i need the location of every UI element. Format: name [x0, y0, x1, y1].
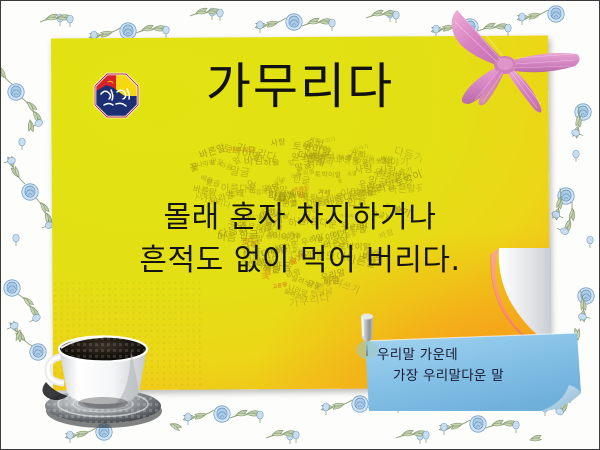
watermark-word: 말모이 [292, 150, 317, 163]
watermark-word: 새말 [263, 180, 282, 196]
watermark-word: 우리말 [300, 137, 334, 161]
watermark-word: 토박이말 [393, 163, 423, 190]
watermark-word: 사랑 [275, 174, 287, 183]
note-line-1: 우리말 가운데 [377, 345, 577, 366]
watermark-word: 꽃 [188, 159, 200, 175]
watermark-word: 살려쓰기 [283, 286, 310, 303]
watermark-word: 슬기 [398, 165, 414, 178]
watermark-word: 말글 [353, 155, 370, 170]
watermark-word: 겨레 [318, 186, 332, 197]
watermark-word: 말글 [293, 157, 313, 174]
watermark-word: 꽃 [337, 177, 344, 185]
watermark-word: 가무리다 [314, 134, 337, 147]
watermark-word: 겨레 [338, 153, 351, 163]
watermark-word: 나라말 [286, 283, 309, 300]
watermark-word: 우리말 [312, 154, 328, 162]
watermark-word: 토박이말 [221, 140, 263, 165]
watermark-word: 배움 [200, 172, 215, 186]
watermark-word: 얼 [231, 153, 243, 167]
watermark-word: 사랑 [378, 162, 397, 177]
watermark-word: 바른말 [388, 180, 416, 196]
note-line-2: 가장 우리말다운 말 [377, 366, 577, 387]
coffee-cup-and-saucer [28, 312, 178, 432]
watermark-word: 겨레 [306, 156, 325, 171]
watermark-word: 토박이말 [315, 168, 342, 179]
watermark-word: 말글 [205, 176, 221, 190]
watermark-word: 다듬기 [303, 146, 336, 170]
watermark-word: 한글날 [335, 152, 361, 168]
watermark-word: 바람 [243, 152, 264, 169]
watermark-word: 마음 [290, 169, 303, 180]
watermark-word: 바른말 [293, 183, 311, 193]
metal-push-pin [350, 312, 384, 368]
watermark-word: 얼 [287, 156, 296, 167]
watermark-word: 가무리다 [288, 289, 332, 311]
watermark-word: 다듬기 [392, 143, 423, 166]
watermark-word: 바른말 [197, 140, 227, 162]
watermark-word: 다듬기 [296, 146, 327, 166]
watermark-word: 사랑 [270, 136, 286, 149]
watermark-word: 글꽃 [273, 178, 284, 187]
watermark-word: 배움 [346, 151, 360, 163]
watermark-word: 바람 [306, 151, 321, 163]
watermark-word: 배움 [380, 153, 394, 165]
watermark-word: 아름다운 우리말 [221, 180, 289, 197]
watermark-word: 글꽃 [209, 156, 225, 169]
watermark-word: 토박이말 [292, 137, 333, 158]
watermark-word: 슬기 [305, 134, 325, 151]
watermark-word: 한글 [292, 171, 312, 187]
watermark-word: 바른말 [285, 289, 302, 300]
watermark-word: 한글날 [310, 285, 334, 300]
slide-canvas: 가무리다노래한글한글글꽃글꽃배움하늘새말마음글꽃이야기말글토박이말꽃바른말말글꽃… [0, 0, 600, 450]
watermark-word: 나라말 [196, 157, 216, 169]
watermark-word: 새말 [347, 169, 358, 178]
watermark-word: 이야기 [353, 143, 370, 154]
watermark-word: 아름다운 우리말 [351, 147, 394, 170]
watermark-word: 가무리다 [314, 152, 335, 160]
watermark-word: 살려쓰기 [362, 155, 389, 165]
watermark-word: 한글날 [312, 150, 335, 162]
watermark-word: 가무리다 [234, 139, 278, 166]
watermark-word: 겨레 [348, 146, 366, 161]
watermark-word: 얼 [244, 177, 258, 194]
watermark-word: 하늘 [263, 155, 281, 169]
watermark-word: 말글 [229, 163, 251, 181]
watermark-word: 새말 [309, 135, 321, 145]
watermark-word: 마음 [219, 159, 234, 172]
watermark-word: 말모이 [317, 155, 341, 168]
watermark-word: 우리말 [357, 177, 385, 196]
watermark-word: 하늘 [373, 168, 384, 177]
watermark-word: 사랑 [353, 159, 374, 176]
definition-line-1: 몰래 혼자 차지하거나 [0, 197, 600, 240]
page-title: 가무리다 [0, 62, 600, 111]
blue-sticky-note: 우리말 가운데 가장 우리말다운 말 [363, 331, 585, 415]
watermark-word: 말글 [360, 186, 372, 196]
octagon-emblem [93, 72, 140, 119]
watermark-word: 바람 [394, 169, 412, 184]
watermark-word: 말글 [366, 173, 389, 192]
watermark-word: 이야기 [380, 154, 409, 169]
watermark-word: 우리말 [296, 166, 316, 179]
watermark-word: 고운말 [315, 281, 331, 289]
watermark-word: 고운말 [272, 281, 288, 291]
watermark-word: 가무리다 [228, 144, 255, 155]
watermark-word: 우리말 [372, 164, 402, 185]
note-text: 우리말 가운데 가장 우리말다운 말 [377, 345, 577, 387]
watermark-word: 마음 [304, 151, 316, 162]
